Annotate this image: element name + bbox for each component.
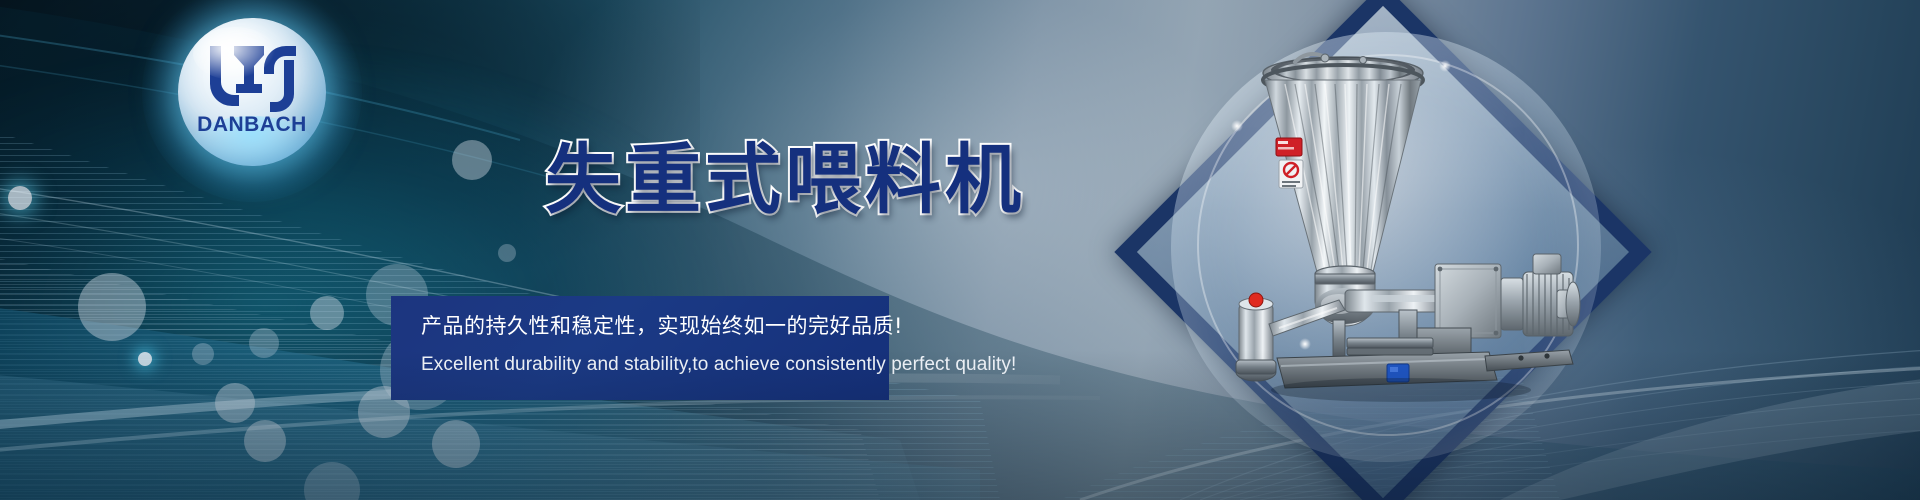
danbach-monogram-icon — [200, 40, 304, 116]
brand-name: DANBACH — [178, 113, 326, 137]
bokeh-circle — [452, 140, 492, 180]
brand-logo[interactable]: DANBACH — [178, 18, 326, 166]
bokeh-circle — [8, 186, 32, 210]
product-banner: DANBACH 失重式喂料机 产品的持久性和稳定性，实现始终如一的完好品质! E… — [0, 0, 1920, 500]
glowing-sphere-icon: DANBACH — [178, 18, 326, 166]
bokeh-circle — [78, 273, 146, 341]
bokeh-circle — [310, 296, 344, 330]
bottom-fade — [0, 350, 1920, 500]
slogan-chinese: 产品的持久性和稳定性，实现始终如一的完好品质! — [421, 310, 889, 340]
bokeh-circle — [498, 244, 516, 262]
page-title: 失重式喂料机 — [545, 118, 1025, 228]
